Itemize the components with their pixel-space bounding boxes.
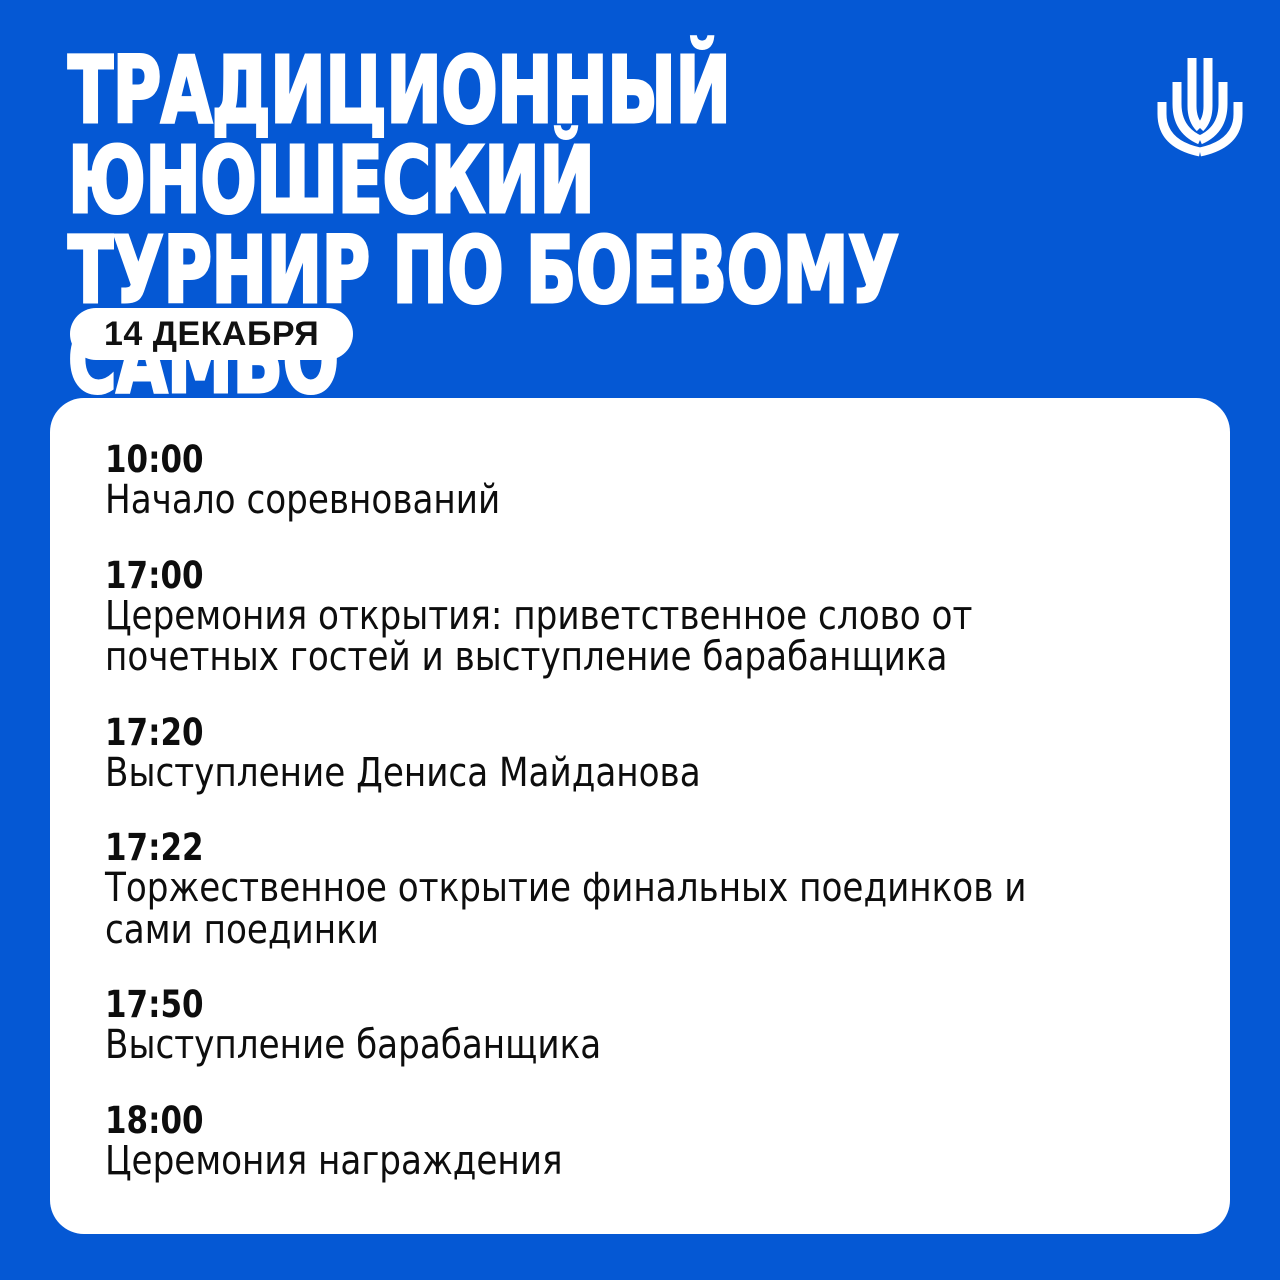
schedule-item-time: 10:00 bbox=[105, 440, 1099, 480]
schedule-item: 17:00 Церемония открытия: приветственное… bbox=[105, 556, 1174, 679]
schedule-item-time: 17:22 bbox=[105, 828, 1099, 868]
schedule-item: 17:20 Выступление Дениса Майданова bbox=[105, 713, 1174, 795]
schedule-item-time: 17:00 bbox=[105, 556, 1099, 596]
schedule-item: 18:00 Церемония награждения bbox=[105, 1101, 1174, 1183]
schedule-item-description: Выступление барабанщика bbox=[105, 1025, 1121, 1067]
date-badge: 14 ДЕКАБРЯ bbox=[70, 308, 353, 360]
schedule-item: 17:22 Торжественное открытие финальных п… bbox=[105, 828, 1174, 951]
event-poster: ТРАДИЦИОННЫЙ ЮНОШЕСКИЙ ТУРНИР ПО БОЕВОМУ… bbox=[0, 0, 1280, 1280]
schedule-item-description: Начало соревнований bbox=[105, 480, 1121, 522]
schedule-item-description: Выступление Дениса Майданова bbox=[105, 753, 1121, 795]
schedule-item: 10:00 Начало соревнований bbox=[105, 440, 1174, 522]
schedule-item-description: Торжественное открытие финальных поединк… bbox=[105, 868, 1121, 951]
schedule-item-description: Церемония открытия: приветственное слово… bbox=[105, 596, 1121, 679]
date-badge-label: 14 ДЕКАБРЯ bbox=[104, 315, 319, 354]
schedule-list: 10:00 Начало соревнований 17:00 Церемони… bbox=[105, 440, 1174, 1182]
mountain-peak-logo-icon bbox=[1144, 52, 1256, 164]
schedule-item-description: Церемония награждения bbox=[105, 1141, 1121, 1183]
schedule-item-time: 18:00 bbox=[105, 1101, 1099, 1141]
schedule-item-time: 17:20 bbox=[105, 713, 1099, 753]
schedule-card: 10:00 Начало соревнований 17:00 Церемони… bbox=[50, 398, 1230, 1234]
schedule-item: 17:50 Выступление барабанщика bbox=[105, 985, 1174, 1067]
schedule-item-time: 17:50 bbox=[105, 985, 1099, 1025]
